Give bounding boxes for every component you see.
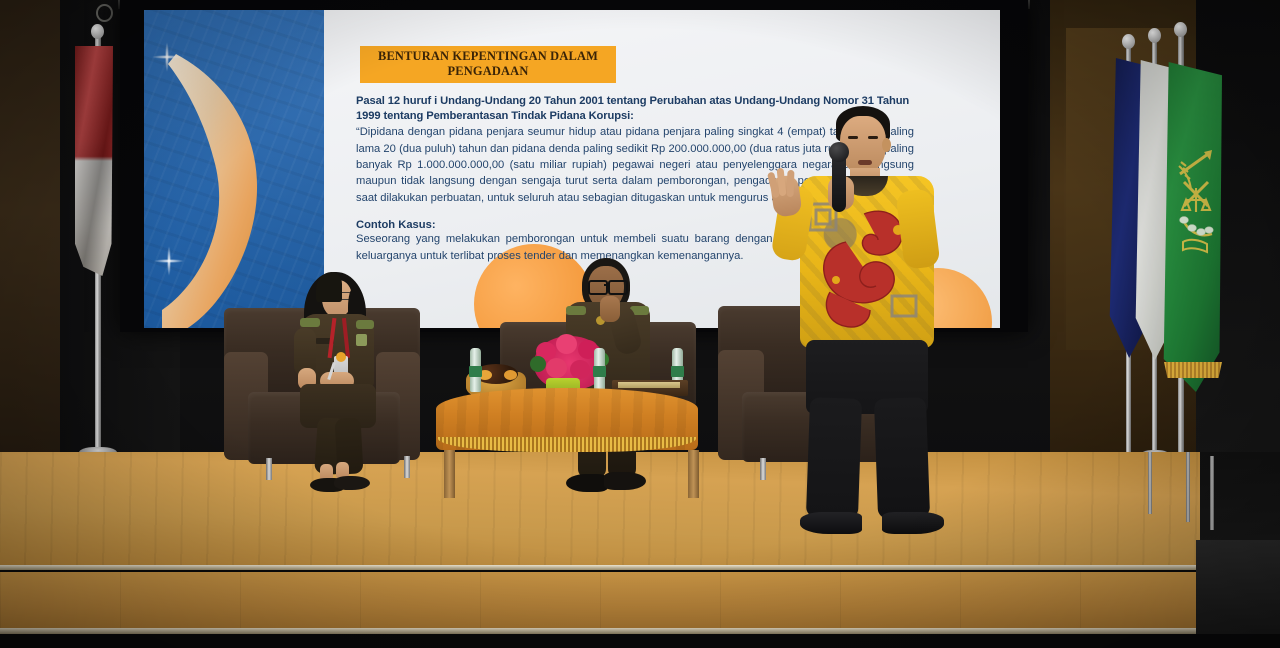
shoe	[882, 512, 944, 534]
bottle-label	[671, 366, 684, 377]
table-leg	[444, 450, 455, 498]
trouser-leg	[806, 397, 862, 519]
name-plate	[618, 382, 680, 388]
bottle-label	[469, 366, 482, 377]
stage-riser-front	[0, 572, 1232, 634]
table-leg	[688, 450, 699, 498]
slide-title: BENTURAN KEPENTINGAN DALAM PENGADAAN	[360, 46, 616, 83]
shoe	[800, 512, 862, 534]
floor-right-area	[1196, 540, 1280, 648]
kejaksaan-emblem-icon	[1174, 148, 1218, 268]
armchair-leg	[266, 458, 272, 480]
mic-stand-leg	[1148, 452, 1152, 514]
trouser-leg	[874, 397, 930, 519]
screen-hook-icon	[96, 4, 113, 22]
gold-swoosh-decoration	[158, 48, 290, 328]
fruit-orange	[504, 370, 517, 380]
indonesia-flag-shading	[75, 46, 113, 276]
flag-gold-fringe	[1164, 362, 1222, 378]
flag-pole-finial	[1122, 34, 1135, 49]
mic-stand-leg	[1210, 456, 1214, 530]
flag-pole-finial	[1174, 22, 1187, 37]
flag-pole-finial	[1148, 28, 1161, 43]
mic-stand-leg	[1186, 452, 1190, 522]
armchair-leg	[404, 456, 410, 478]
slide-law-heading: Pasal 12 huruf i Undang-Undang 20 Tahun …	[356, 94, 914, 123]
armchair-leg	[760, 458, 766, 480]
flag-pole-finial	[91, 24, 104, 39]
bottle-label	[593, 366, 606, 377]
microphone-head-icon	[829, 142, 849, 162]
stage-base-shadow	[0, 634, 1280, 648]
seminar-photo-scene: BENTURAN KEPENTINGAN DALAM PENGADAAN Pas…	[0, 0, 1280, 648]
